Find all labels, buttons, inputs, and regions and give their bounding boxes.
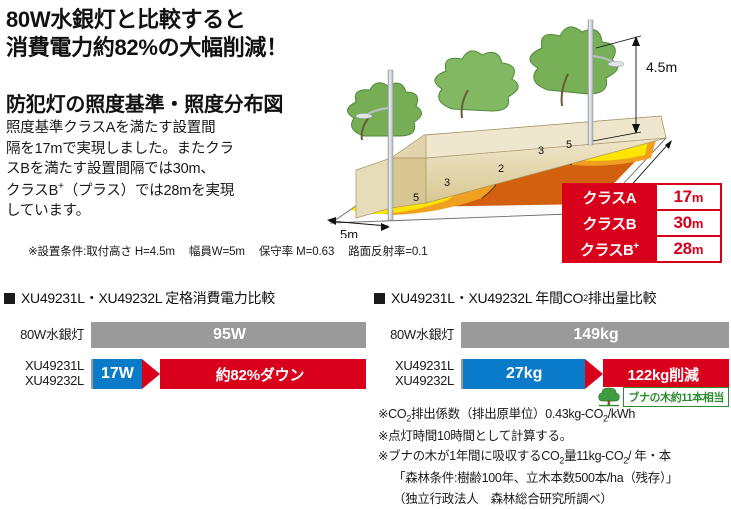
class-value-a-number: 17 [674, 187, 692, 206]
headline-line-1: 80W水銀灯と比較すると [6, 7, 246, 32]
contour-label-3-right: 3 [538, 145, 544, 157]
class-label-b-text: クラスB [583, 216, 637, 233]
tree-icon-left [347, 83, 421, 140]
body-copy-line-2: 隔を17mで実現しました。またクラ [6, 139, 296, 160]
class-value-b-number: 30 [674, 213, 692, 232]
bar-reference: 149kg [463, 322, 729, 348]
footnote-3-mid: 量11kg-CO [564, 449, 623, 463]
chart-co2-bars: 80W水銀灯 149kg XU49231L XU49232L 27kg [374, 322, 729, 389]
body-copy-line-3: スBを満たす設置間隔では30m、 [6, 159, 296, 180]
bar-reference: 95W [93, 322, 366, 348]
bar-new-value: 17W [101, 365, 134, 383]
contour-label-5-left: 5 [413, 192, 419, 204]
bar-track-reference: 95W [91, 322, 366, 348]
chart-co2-title-post: 排出量比較 [588, 288, 657, 308]
condition-reflectance: 路面反射率=0.1 [348, 246, 427, 258]
savings-callout-label: 122kg削減 [616, 364, 699, 385]
tree-icon-center [435, 51, 518, 118]
bar-category-reference: 80W水銀灯 [4, 328, 91, 343]
bar-row-new: XU49231L XU49232L 27kg 122kg削減 [374, 359, 729, 389]
contour-label-3-left: 3 [444, 177, 450, 189]
body-copy-line-1: 照度基準クラスAを満たす設置間 [6, 118, 296, 139]
footnote-1-post: /kWh [608, 407, 635, 421]
bar-new-value: 27kg [506, 365, 542, 383]
class-label-a-text: クラスA [583, 190, 637, 207]
bar-reference-value: 95W [213, 326, 246, 344]
body-copy-line-4-post: （プラス）では28mを実現 [64, 183, 234, 199]
chart-power-bars: 80W水銀灯 95W XU49231L XU49232L 17W [4, 322, 366, 389]
bar-new: 27kg [463, 359, 585, 389]
footnote-5: （独立行政法人 森林総合研究所調べ） [378, 489, 726, 509]
bar-new-wrap: 27kg 122kg削減 ブナの木約11本相当 [463, 359, 729, 389]
class-value-a-unit: m [692, 190, 703, 205]
class-value-b: 30m [656, 210, 721, 236]
page-headline: 80W水銀灯と比較すると 消費電力約82%の大幅削減！ [6, 6, 346, 62]
body-copy-line-4-pre: クラスB [6, 183, 58, 199]
wall-side-return [356, 158, 391, 218]
contour-label-5-right: 5 [566, 139, 572, 151]
condition-maintenance-factor: 保守率 M=0.63 [259, 246, 334, 258]
class-value-b-plus-number: 28 [674, 239, 692, 258]
bullet-square-icon [4, 293, 15, 304]
bar-track-new: 17W 約82%ダウン [91, 359, 366, 389]
savings-callout-label: 約82%ダウン [204, 364, 305, 385]
bar-category-new-line1: XU49231L [4, 359, 84, 374]
chart-co2-title-pre: XU49231L・XU49232L 年間CO [391, 288, 583, 308]
class-label-b-plus: クラスB+ [563, 236, 656, 262]
savings-callout-bar: 約82%ダウン [142, 359, 366, 389]
class-label-a: クラスA [563, 184, 656, 210]
chart-power-title-text: XU49231L・XU49232L 定格消費電力比較 [21, 288, 275, 308]
class-row-b-plus: クラスB+ 28m [563, 236, 721, 262]
arrow-left-icon [585, 359, 603, 389]
bar-row-reference: 80W水銀灯 95W [4, 322, 366, 348]
bar-category-new-line2: XU49232L [4, 374, 84, 389]
footnote-1: ※CO2排出係数（排出原単位）0.43kg-CO2/kWh [378, 404, 726, 426]
class-label-b: クラスB [563, 210, 656, 236]
footnote-3-post: / 年・本 [628, 449, 671, 463]
luminaire-head-right [608, 61, 624, 66]
infographic-page: 80W水銀灯と比較すると 消費電力約82%の大幅削減！ 防犯灯の照度基準・照度分… [0, 0, 731, 509]
bar-row-reference: 80W水銀灯 149kg [374, 322, 729, 348]
footnote-4: 「森林条件:樹齢100年、立木本数500本/ha（残存）」 [378, 468, 726, 488]
bullet-square-icon [374, 293, 385, 304]
footnote-3: ※ブナの木が1年間に吸収するCO2量11kg-CO2/ 年・本 [378, 446, 726, 468]
dimension-height-label: 4.5m [646, 59, 677, 75]
bar-track-new: 27kg 122kg削減 ブナの木約11本相当 [461, 359, 729, 389]
arrow-left-icon [142, 359, 160, 389]
bar-category-new: XU49231L XU49232L [4, 359, 91, 388]
footnote-1-mid: 排出係数（排出原単位）0.43kg-CO [411, 407, 603, 421]
footnote-3-pre: ※ブナの木が1年間に吸収するCO [378, 449, 559, 463]
condition-note: ※設置条件:取付高さ H=4.5m幅員W=5m保守率 M=0.63路面反射率=0… [28, 243, 442, 259]
bar-new-wrap: 17W 約82%ダウン [93, 359, 366, 389]
chart-co2-emission: XU49231L・XU49232L 年間CO2排出量比較 80W水銀灯 149k… [374, 288, 729, 389]
condition-road-width: 幅員W=5m [189, 246, 245, 258]
class-value-b-unit: m [692, 216, 703, 231]
footnote-2: ※点灯時間10時間として計算する。 [378, 426, 726, 446]
bar-track-reference: 149kg [461, 322, 729, 348]
bar-category-new: XU49231L XU49232L [374, 359, 461, 388]
bar-new: 17W [93, 359, 142, 389]
class-row-a: クラスA 17m [563, 184, 721, 210]
contour-label-2: 2 [498, 163, 504, 175]
class-label-b-plus-sup: + [633, 241, 638, 252]
chart-co2-title: XU49231L・XU49232L 年間CO2排出量比較 [374, 288, 729, 308]
footnotes: ※CO2排出係数（排出原単位）0.43kg-CO2/kWh ※点灯時間10時間と… [378, 404, 726, 509]
bar-category-new-line1: XU49231L [374, 359, 454, 374]
savings-callout-bar: 122kg削減 [585, 359, 729, 389]
luminaire-head-left [356, 113, 372, 118]
headline-line-2: 消費電力約82%の大幅削減！ [6, 34, 346, 62]
bar-row-new: XU49231L XU49232L 17W 約82%ダウン [4, 359, 366, 389]
footnote-1-pre: ※CO [378, 407, 406, 421]
class-value-b-plus: 28m [656, 236, 721, 262]
class-label-b-plus-text: クラスB [580, 242, 634, 259]
class-value-b-plus-unit: m [692, 242, 703, 257]
wall-end-face [391, 158, 426, 208]
body-copy-line-5: しています。 [6, 201, 296, 222]
bar-category-new-line2: XU49232L [374, 374, 454, 389]
dimension-width-label: 5m [340, 227, 358, 238]
chart-power-title: XU49231L・XU49232L 定格消費電力比較 [4, 288, 366, 308]
class-spacing-table: クラスA 17m クラスB 30m クラスB+ 28m [562, 183, 722, 263]
chart-power-consumption: XU49231L・XU49232L 定格消費電力比較 80W水銀灯 95W XU… [4, 288, 366, 389]
body-copy-line-4: クラスB+（プラス）では28mを実現 [6, 180, 296, 201]
condition-mount-height: ※設置条件:取付高さ H=4.5m [28, 246, 175, 258]
body-copy: 照度基準クラスAを満たす設置間 隔を17mで実現しました。またクラ スBを満たす… [6, 118, 296, 222]
class-value-a: 17m [656, 184, 721, 210]
bar-category-reference: 80W水銀灯 [374, 328, 461, 343]
bar-reference-value: 149kg [573, 326, 618, 344]
class-row-b: クラスB 30m [563, 210, 721, 236]
